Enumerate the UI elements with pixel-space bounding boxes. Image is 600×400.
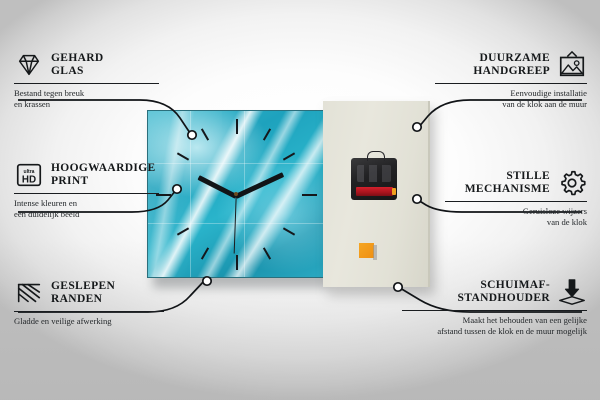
- divider: [435, 83, 587, 84]
- divider: [14, 193, 159, 194]
- feature-header: ultra HD HOOGWAARDIGE PRINT: [14, 160, 159, 190]
- feature-header: DUURZAME HANDGREEP: [435, 50, 587, 80]
- feature-hoogwaardige-print: ultra HD HOOGWAARDIGE PRINT Intense kleu…: [14, 160, 159, 219]
- divider: [14, 83, 159, 84]
- gear-icon: [557, 168, 587, 198]
- ultra-hd-icon: ultra HD: [14, 160, 44, 190]
- connector-dot: [413, 123, 421, 131]
- divider: [14, 311, 164, 312]
- feature-header: GESLEPEN RANDEN: [14, 278, 164, 308]
- infographic-canvas: GEHARD GLAS Bestand tegen breuk en krass…: [0, 0, 600, 400]
- svg-text:HD: HD: [22, 175, 36, 186]
- feature-header: STILLE MECHANISME: [445, 168, 587, 198]
- feature-desc: Gladde en veilige afwerking: [14, 316, 164, 327]
- diamond-icon: [14, 50, 44, 80]
- feature-stille-mechanisme: STILLE MECHANISME Geruisloze wijzers van…: [445, 168, 587, 227]
- feature-schuimafstandhouder: SCHUIMAF- STANDHOUDER Maakt het behouden…: [402, 277, 587, 336]
- feature-desc: Geruisloze wijzers van de klok: [445, 206, 587, 227]
- connector-dot: [413, 195, 421, 203]
- feature-desc: Maakt het behouden van een gelijke afsta…: [402, 315, 587, 336]
- feature-title: STILLE MECHANISME: [465, 170, 550, 197]
- divider: [445, 201, 587, 202]
- feature-desc: Bestand tegen breuk en krassen: [14, 88, 159, 109]
- feature-title: GEHARD GLAS: [51, 52, 104, 79]
- beveled-edges-icon: [14, 278, 44, 308]
- picture-hanger-icon: [557, 50, 587, 80]
- feature-title: SCHUIMAF- STANDHOUDER: [458, 279, 550, 306]
- divider: [402, 310, 587, 311]
- feature-title: HOOGWAARDIGE PRINT: [51, 162, 156, 189]
- feature-gehard-glas: GEHARD GLAS Bestand tegen breuk en krass…: [14, 50, 159, 109]
- feature-header: GEHARD GLAS: [14, 50, 159, 80]
- connector-dot: [188, 131, 196, 139]
- feature-desc: Intense kleuren en een duidelijk beeld: [14, 198, 159, 219]
- connector-dot: [173, 185, 181, 193]
- feature-desc: Eenvoudige installatie van de klok aan d…: [435, 88, 587, 109]
- feature-header: SCHUIMAF- STANDHOUDER: [402, 277, 587, 307]
- feature-title: GESLEPEN RANDEN: [51, 280, 115, 307]
- spacer-down-arrow-icon: [557, 277, 587, 307]
- connector-dot: [394, 283, 402, 291]
- feature-geslepen-randen: GESLEPEN RANDEN Gladde en veilige afwerk…: [14, 278, 164, 327]
- connector-dot: [203, 277, 211, 285]
- feature-duurzame-handgreep: DUURZAME HANDGREEP Eenvoudige installati…: [435, 50, 587, 109]
- feature-title: DUURZAME HANDGREEP: [473, 52, 550, 79]
